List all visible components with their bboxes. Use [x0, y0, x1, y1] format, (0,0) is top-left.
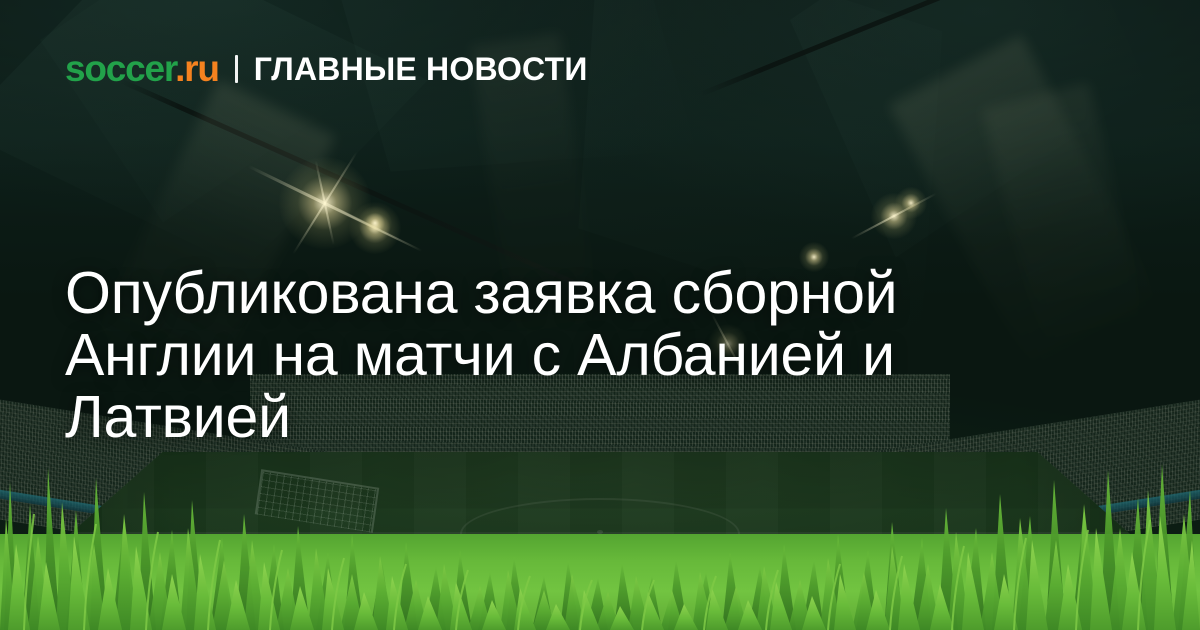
headline-line-3: Латвией — [65, 386, 965, 448]
site-logo[interactable]: soccer.ru — [65, 50, 219, 87]
page-title: Опубликована заявка сборной Англии на ма… — [65, 262, 965, 448]
brand-bar: soccer.ru ГЛАВНЫЕ НОВОСТИ — [65, 50, 588, 87]
logo-text-soccer: soccer — [65, 48, 175, 89]
headline-line-1: Опубликована заявка сборной — [65, 262, 965, 324]
logo-text-ru: .ru — [175, 48, 219, 89]
brand-divider — [235, 55, 238, 83]
news-share-card: soccer.ru ГЛАВНЫЕ НОВОСТИ Опубликована з… — [0, 0, 1200, 630]
headline-line-2: Англии на матчи с Албанией и — [65, 324, 965, 386]
section-label: ГЛАВНЫЕ НОВОСТИ — [254, 53, 588, 85]
